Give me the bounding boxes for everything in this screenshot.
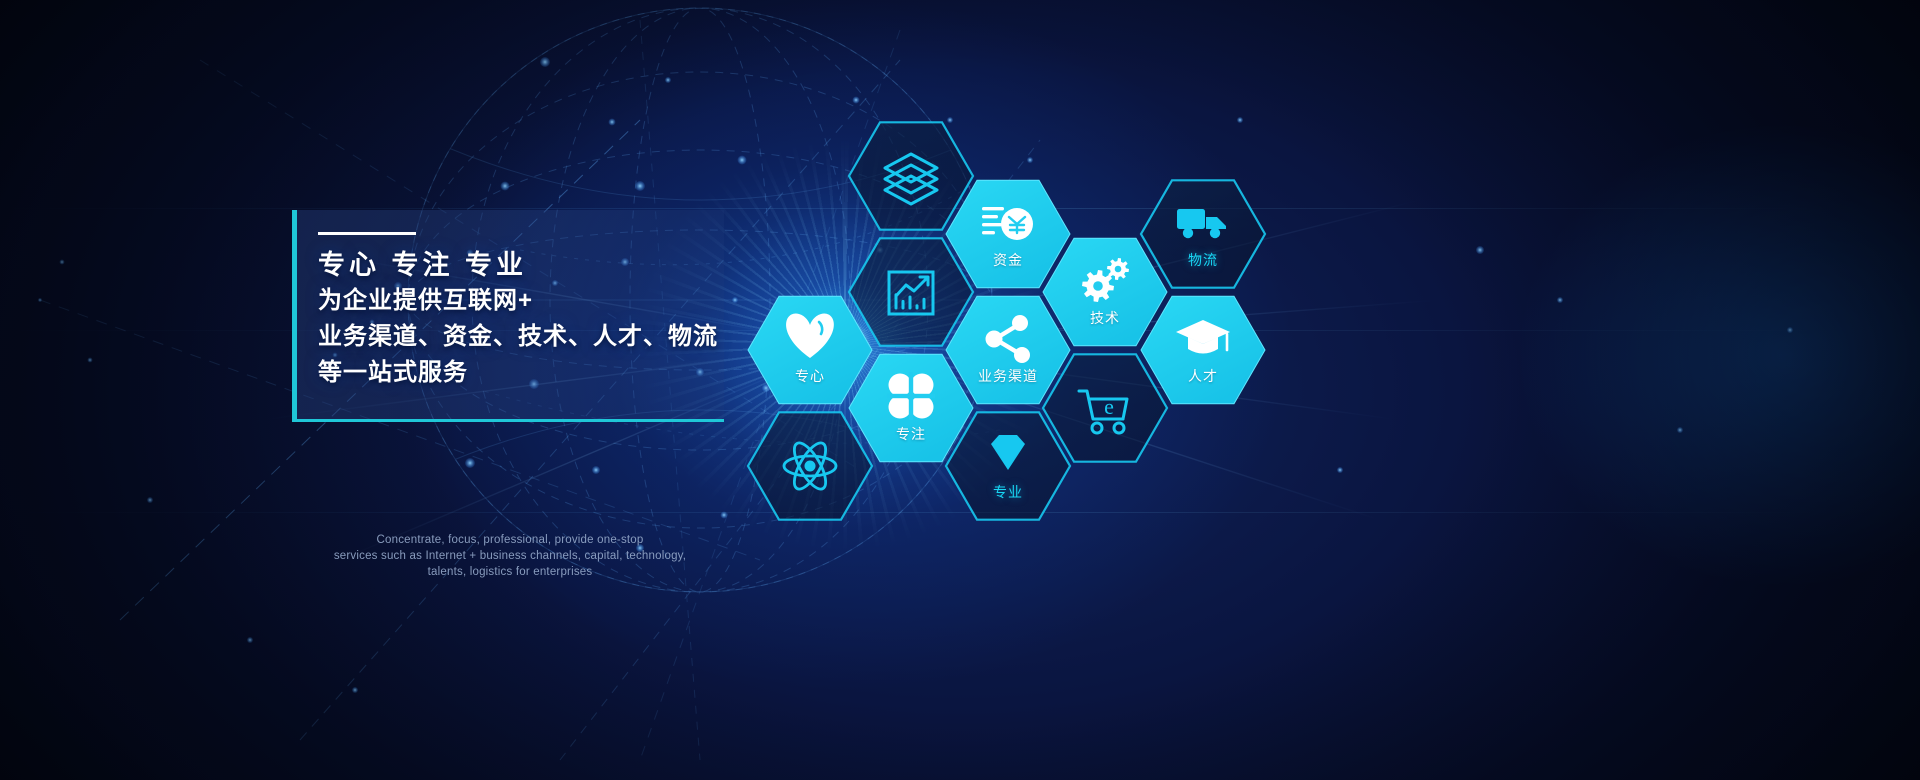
banner-stage: e 专心专注资金技术业务渠道人才物流专业 专心 专注 专业 为企业提供互联网+ …: [0, 0, 1920, 780]
headline-line-4: 等一站式服务: [318, 355, 736, 391]
headline-line-1: 专心 专注 专业: [318, 247, 736, 283]
subtitle-line-1: Concentrate, focus, professional, provid…: [300, 532, 720, 548]
subtitle-block: Concentrate, focus, professional, provid…: [300, 532, 720, 580]
headline-content: 专心 专注 专业 为企业提供互联网+ 业务渠道、资金、技术、人才、物流 等一站式…: [306, 210, 736, 391]
headline-line-3: 业务渠道、资金、技术、人才、物流: [318, 319, 736, 355]
subtitle-line-3: talents, logistics for enterprises: [300, 564, 720, 580]
vignette: [0, 0, 1920, 780]
subtitle-line-2: services such as Internet + business cha…: [300, 548, 720, 564]
headline-rule: [318, 232, 416, 235]
headline-line-2: 为企业提供互联网+: [318, 283, 736, 319]
